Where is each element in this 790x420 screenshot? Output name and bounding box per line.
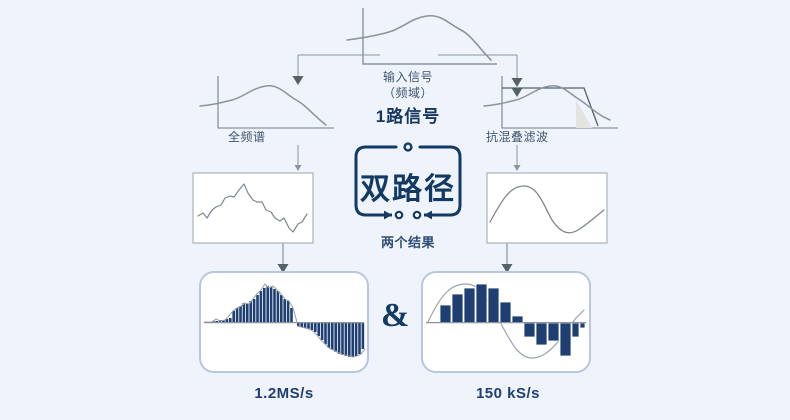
panel-left-spectrum-trace (192, 172, 314, 244)
label-rate-low: 150 kS/s (428, 385, 588, 402)
label-full-spectrum: 全频谱 (228, 128, 368, 145)
trace (347, 16, 491, 60)
diagram-canvas: 输入信号 （频域） 1路信号 全频谱 抗混叠滤波 双路径 两个结果 (0, 0, 790, 420)
label-antialias-filter: 抗混叠滤波 (486, 128, 626, 145)
panel-right-sine-trace (486, 172, 608, 244)
ampersand-conjunction: & (381, 297, 409, 335)
chart-input-spectrum (345, 2, 505, 77)
label-rate-high: 1.2MS/s (204, 385, 364, 402)
label-input-signal-line2: （频域） (338, 84, 478, 101)
axis (502, 76, 618, 128)
label-one-signal: 1路信号 (338, 102, 478, 127)
panel-frame (487, 173, 607, 243)
label-input-signal-line1: 输入信号 (338, 68, 478, 85)
trace (200, 86, 326, 125)
trace (484, 86, 610, 120)
badge-caption-two-results: 两个结果 (348, 232, 468, 251)
result-panel-high-rate (198, 270, 370, 374)
badge-dual-path-label: 双路径 (356, 164, 460, 208)
axis (218, 76, 334, 128)
badge-dot-left (396, 212, 402, 218)
badge-dot-right (414, 212, 420, 218)
panel-frame (193, 173, 313, 243)
result-panel-low-rate (420, 270, 592, 374)
badge-dot-top (405, 144, 412, 151)
